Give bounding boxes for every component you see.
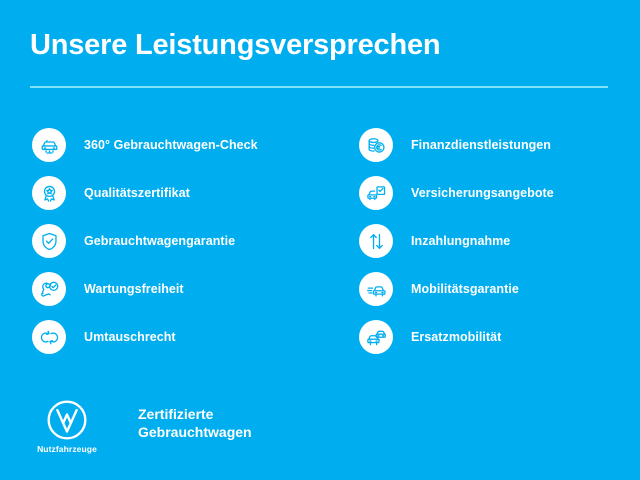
benefit-item: Umtauschrecht (32, 320, 332, 354)
benefits-right-column: Finanzdienstleistungen Versicherungsange… (359, 128, 629, 368)
car-motion-icon (366, 279, 387, 300)
footer-headline-line1: Zertifizierte (138, 405, 252, 423)
title-divider (30, 86, 608, 88)
car-inspection-icon (39, 135, 60, 156)
benefit-label: Versicherungsangebote (411, 186, 554, 200)
page-title: Unsere Leistungsversprechen (30, 29, 440, 62)
footer-headline: Zertifizierte Gebrauchtwagen (138, 405, 252, 441)
two-cars-icon (366, 327, 387, 348)
up-down-arrows-icon (366, 231, 387, 252)
benefit-item: Wartungsfreiheit (32, 272, 332, 306)
benefit-icon-badge (32, 320, 66, 354)
benefit-icon-badge (359, 176, 393, 210)
benefit-item: 360° Gebrauchtwagen-Check (32, 128, 332, 162)
benefit-label: 360° Gebrauchtwagen-Check (84, 138, 258, 152)
benefit-label: Ersatzmobilität (411, 330, 501, 344)
benefits-left-column: 360° Gebrauchtwagen-Check Qualitätszerti… (32, 128, 332, 368)
award-rosette-icon (39, 183, 60, 204)
benefit-label: Finanzdienstleistungen (411, 138, 551, 152)
benefit-icon-badge (359, 224, 393, 258)
benefit-icon-badge (32, 224, 66, 258)
benefit-label: Gebrauchtwagengarantie (84, 234, 235, 248)
benefit-item: Finanzdienstleistungen (359, 128, 629, 162)
car-document-icon (366, 183, 387, 204)
benefit-label: Umtauschrecht (84, 330, 176, 344)
benefit-icon-badge (32, 272, 66, 306)
benefit-icon-badge (359, 272, 393, 306)
benefit-item: Gebrauchtwagengarantie (32, 224, 332, 258)
benefit-icon-badge (32, 128, 66, 162)
footer-headline-line2: Gebrauchtwagen (138, 423, 252, 441)
benefit-item: Mobilitätsgarantie (359, 272, 629, 306)
benefit-label: Inzahlungnahme (411, 234, 510, 248)
promise-slide: Unsere Leistungsversprechen 360° Gebrauc… (0, 0, 640, 480)
shield-check-icon (39, 231, 60, 252)
benefit-icon-badge (359, 320, 393, 354)
benefit-label: Wartungsfreiheit (84, 282, 184, 296)
vw-logo-icon (45, 398, 89, 442)
benefit-item: Ersatzmobilität (359, 320, 629, 354)
benefit-item: Inzahlungnahme (359, 224, 629, 258)
benefit-icon-badge (32, 176, 66, 210)
benefit-icon-badge (359, 128, 393, 162)
footer-branding: Nutzfahrzeuge Zertifizierte Gebrauchtwag… (32, 398, 252, 454)
wrench-check-icon (39, 279, 60, 300)
exchange-arrows-icon (39, 327, 60, 348)
vw-logo-subtitle: Nutzfahrzeuge (37, 444, 97, 454)
vw-logo-block: Nutzfahrzeuge (32, 398, 102, 454)
benefit-item: Versicherungsangebote (359, 176, 629, 210)
benefit-label: Qualitätszertifikat (84, 186, 190, 200)
coins-euro-icon (366, 135, 387, 156)
benefit-label: Mobilitätsgarantie (411, 282, 519, 296)
benefit-item: Qualitätszertifikat (32, 176, 332, 210)
